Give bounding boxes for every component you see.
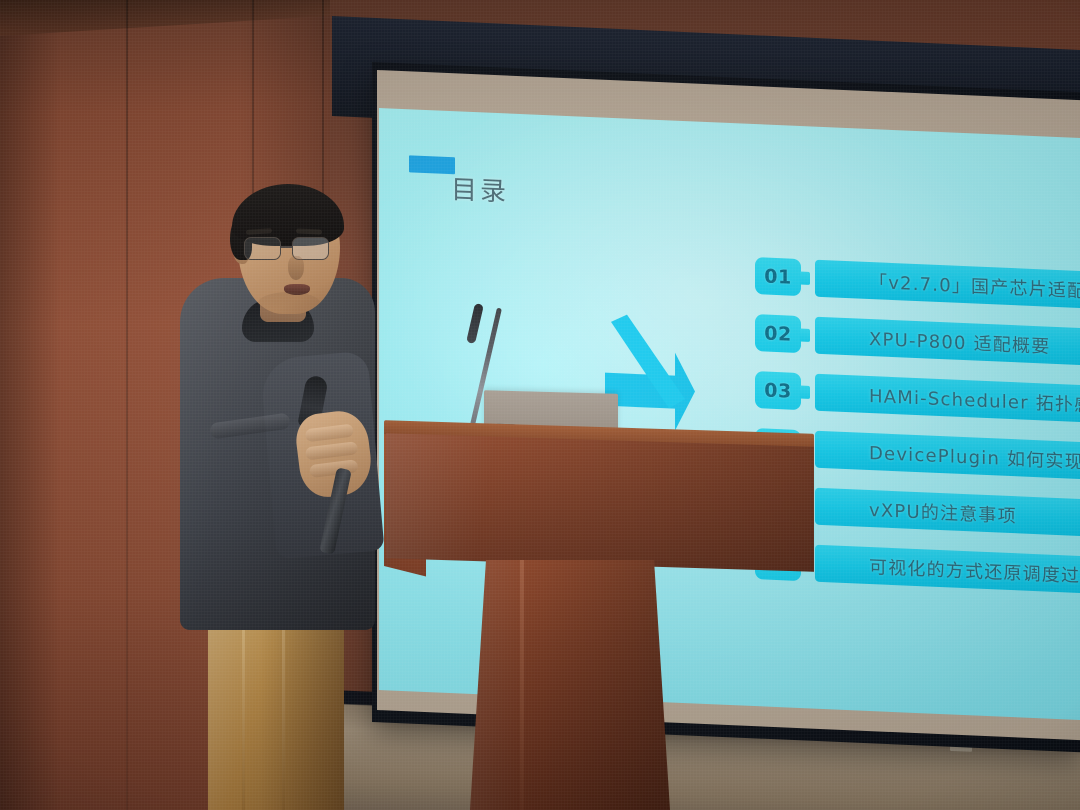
trouser-shadow xyxy=(260,618,344,810)
podium-body xyxy=(386,433,814,571)
finger xyxy=(309,459,358,478)
agenda-label: 可视化的方式还原调度过程 xyxy=(815,545,1080,595)
slide-title: 目录 xyxy=(451,169,509,208)
agenda-item: 01 「v2.7.0」国产芯片适配进展 xyxy=(755,257,1080,310)
title-accent-bar xyxy=(409,155,455,174)
chin-shading xyxy=(258,292,320,314)
glasses-bridge xyxy=(281,246,292,248)
finger xyxy=(305,424,354,443)
glasses-icon xyxy=(242,237,336,261)
presentation-photo-scene: 目录 01 「v2.7.0」国产芯片适配进展 02 XPU-P800 适配概要 … xyxy=(0,0,1080,810)
wall-top-shadow xyxy=(0,0,330,36)
glasses-lens xyxy=(244,237,281,260)
agenda-item: 02 XPU-P800 适配概要 xyxy=(755,314,1080,367)
agenda-number-badge: 02 xyxy=(755,314,801,353)
agenda-item: 03 HAMi-Scheduler 拓扑感知 xyxy=(755,371,1080,424)
agenda-label: XPU-P800 适配概要 xyxy=(815,317,1080,367)
podium-stem xyxy=(470,560,670,810)
agenda-label: vXPU的注意事项 xyxy=(815,488,1080,538)
speaker-figure xyxy=(150,180,450,810)
agenda-number-badge: 01 xyxy=(755,257,801,296)
wall-seam xyxy=(126,0,128,810)
finger xyxy=(305,441,358,460)
agenda-label: 「v2.7.0」国产芯片适配进展 xyxy=(815,260,1080,310)
podium-stem-highlight xyxy=(520,560,524,810)
trouser-crease xyxy=(242,620,245,810)
agenda-label: DevicePlugin 如何实现动态切分 xyxy=(815,431,1080,481)
agenda-label: HAMi-Scheduler 拓扑感知 xyxy=(815,374,1080,424)
agenda-number-badge: 03 xyxy=(755,371,801,410)
speaker-nose xyxy=(288,256,304,280)
